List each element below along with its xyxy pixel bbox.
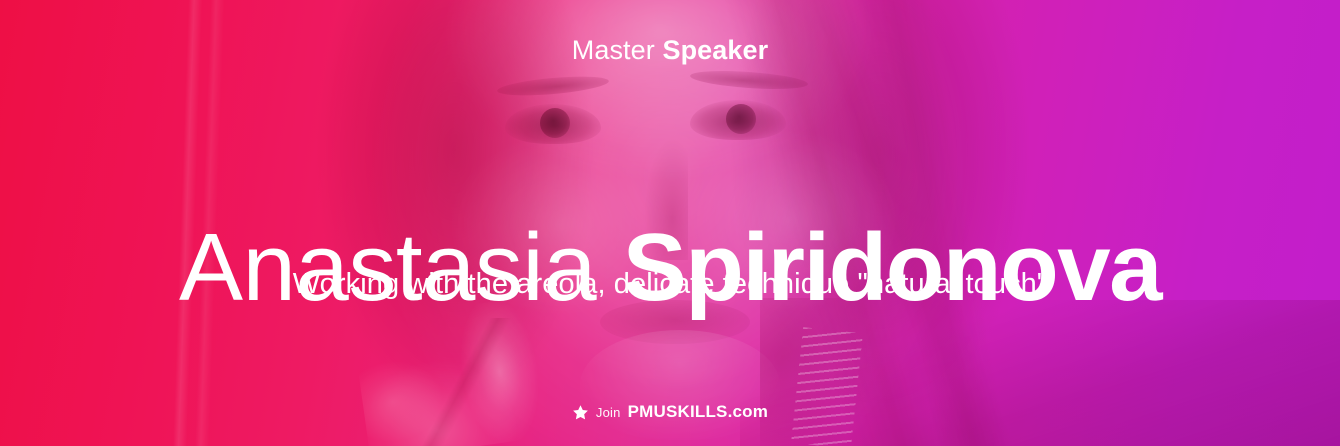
portrait-eyebrow-left — [497, 73, 610, 99]
eyebrow-prefix: Master — [572, 35, 655, 65]
portrait-necklace — [791, 327, 863, 446]
portrait-eyebrow-right — [690, 68, 809, 92]
footer-cta[interactable]: Join PMUSKILLS.com — [0, 402, 1340, 422]
footer-site-link[interactable]: PMUSKILLS.com — [628, 402, 769, 422]
portrait-hand-shadow — [398, 318, 548, 446]
star-icon — [572, 404, 589, 421]
portrait-iris-right — [726, 104, 756, 134]
subtitle: Working with the areola, delicate techni… — [0, 266, 1340, 302]
footer-join-label: Join — [596, 405, 621, 420]
portrait-iris-left — [540, 108, 570, 138]
speaker-banner: Master Speaker Anastasia Spiridonova Wor… — [0, 0, 1340, 446]
eyebrow-emphasis: Speaker — [662, 35, 768, 65]
eyebrow-heading: Master Speaker — [0, 34, 1340, 66]
